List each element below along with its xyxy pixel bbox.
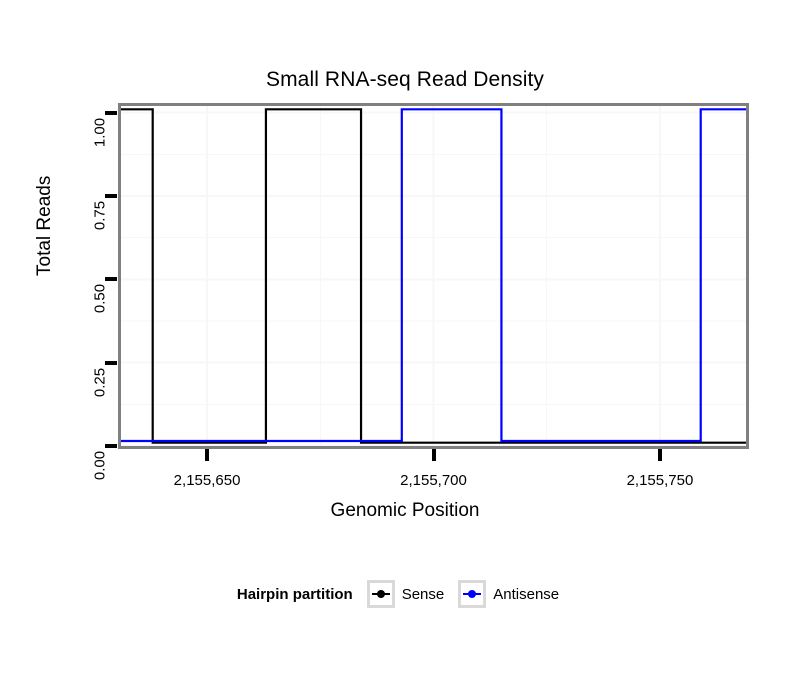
x-tick-mark (658, 449, 662, 461)
legend-label-antisense: Antisense (493, 586, 559, 603)
y-tick-label: 0.50 (92, 279, 109, 319)
x-axis-title: Genomic Position (0, 500, 810, 522)
legend-entry-sense[interactable]: Sense (367, 580, 445, 608)
chart-title: Small RNA-seq Read Density (0, 68, 810, 92)
legend-entry-antisense[interactable]: Antisense (458, 580, 559, 608)
plot-area (121, 106, 746, 446)
legend-key-antisense-icon (458, 580, 486, 608)
data-series-layer (121, 106, 746, 446)
legend-key-dot (468, 590, 476, 598)
x-tick-mark (205, 449, 209, 461)
series-line-sense (121, 109, 746, 442)
legend-title: Hairpin partition (237, 586, 353, 603)
legend-key-sense-icon (367, 580, 395, 608)
plot-panel (118, 103, 749, 449)
y-tick-label: 0.25 (92, 362, 109, 402)
y-tick-label: 1.00 (92, 112, 109, 152)
chart-figure: Small RNA-seq Read Density Total Reads 0… (0, 0, 810, 690)
x-tick-label: 2,155,700 (400, 472, 467, 489)
y-tick-label: 0.00 (92, 446, 109, 486)
x-tick-label: 2,155,650 (174, 472, 241, 489)
legend-key-dot (377, 590, 385, 598)
series-line-antisense (121, 109, 746, 441)
legend: Hairpin partition Sense Antisense (0, 580, 810, 608)
legend-label-sense: Sense (402, 586, 445, 603)
y-axis-title: Total Reads (34, 176, 56, 276)
x-tick-label: 2,155,750 (627, 472, 694, 489)
y-tick-label: 0.75 (92, 196, 109, 236)
x-tick-mark (432, 449, 436, 461)
